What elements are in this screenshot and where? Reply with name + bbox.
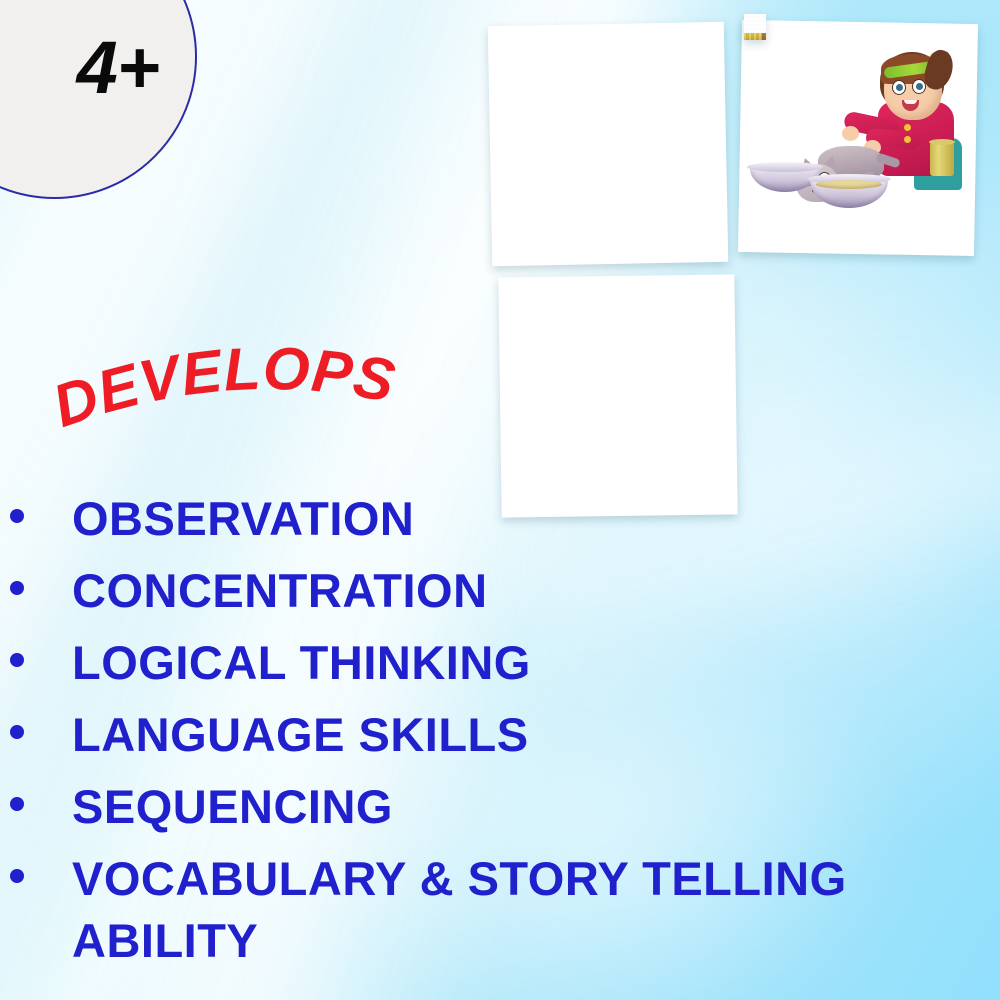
develops-arc-svg: DEVELOPS (58, 352, 438, 442)
cat-body (749, 215, 798, 258)
list-item: SEQUENCING (0, 776, 920, 838)
girl-ponytail (921, 47, 957, 93)
list-item: VOCABULARY & STORY TELLING ABILITY (0, 848, 920, 972)
sequence-card-3 (498, 274, 737, 517)
cat-leg (749, 257, 757, 273)
sequence-card-1 (488, 22, 729, 266)
bowl-rim (748, 309, 820, 310)
shirt-button (904, 124, 911, 131)
list-item-label: VOCABULARY & STORY TELLING ABILITY (72, 848, 920, 972)
sequence-card-4 (744, 14, 766, 40)
girl-character (499, 34, 612, 186)
list-item-label: OBSERVATION (72, 488, 920, 550)
product-feature-poster: 4+ DEVELOPS OBSERVATION CONCENTRATION LO… (0, 0, 1000, 1000)
cat-leg (512, 471, 520, 487)
fork-tines (748, 337, 962, 341)
list-item: CONCENTRATION (0, 560, 920, 622)
girl-eye (892, 80, 906, 95)
bullet-dot-icon (10, 725, 24, 739)
bowl-food (748, 309, 820, 338)
food-can (930, 142, 954, 176)
fork-handle (748, 337, 962, 341)
bowl-rim (747, 162, 823, 172)
bowl-rim (748, 284, 814, 285)
bowl-content (748, 284, 814, 285)
fork (747, 337, 962, 373)
bullet-dot-icon (10, 509, 24, 523)
list-item: LOGICAL THINKING (0, 632, 920, 694)
girl-legs (499, 35, 548, 98)
age-rating-label: 4+ (77, 31, 159, 105)
girl-hand-left (842, 126, 859, 141)
list-item-label: CONCENTRATION (72, 560, 920, 622)
age-rating-badge: 4+ (0, 0, 197, 199)
bowl-milk (748, 284, 814, 310)
page-title: DEVELOPS (58, 352, 438, 442)
girl-character (509, 286, 629, 438)
develops-arc-text: DEVELOPS (45, 335, 401, 440)
list-item: OBSERVATION (0, 488, 920, 550)
bullet-dot-icon (10, 581, 24, 595)
bowl-content (748, 309, 820, 310)
girl-torso (510, 338, 587, 411)
list-item-label: SEQUENCING (72, 776, 920, 838)
bullet-dot-icon (10, 653, 24, 667)
can-lid (929, 139, 955, 145)
list-item-label: LOGICAL THINKING (72, 632, 920, 694)
table-surface (744, 33, 766, 40)
girl-legs (509, 287, 560, 340)
develops-textpath: DEVELOPS (45, 335, 401, 440)
list-item: LANGUAGE SKILLS (0, 704, 920, 766)
bullet-dot-icon (10, 797, 24, 811)
shirt-button (904, 136, 911, 143)
girl-eye (912, 79, 926, 94)
girl-torso (500, 97, 573, 176)
cat-leg (503, 237, 511, 253)
cat-character (748, 206, 835, 285)
sequence-card-grid (482, 14, 1000, 526)
develops-benefit-list: OBSERVATION CONCENTRATION LOGICAL THINKI… (0, 488, 920, 982)
bullet-dot-icon (10, 869, 24, 883)
list-item-label: LANGUAGE SKILLS (72, 704, 920, 766)
table-shadow-edge (762, 33, 766, 40)
bowl-content (816, 180, 882, 189)
